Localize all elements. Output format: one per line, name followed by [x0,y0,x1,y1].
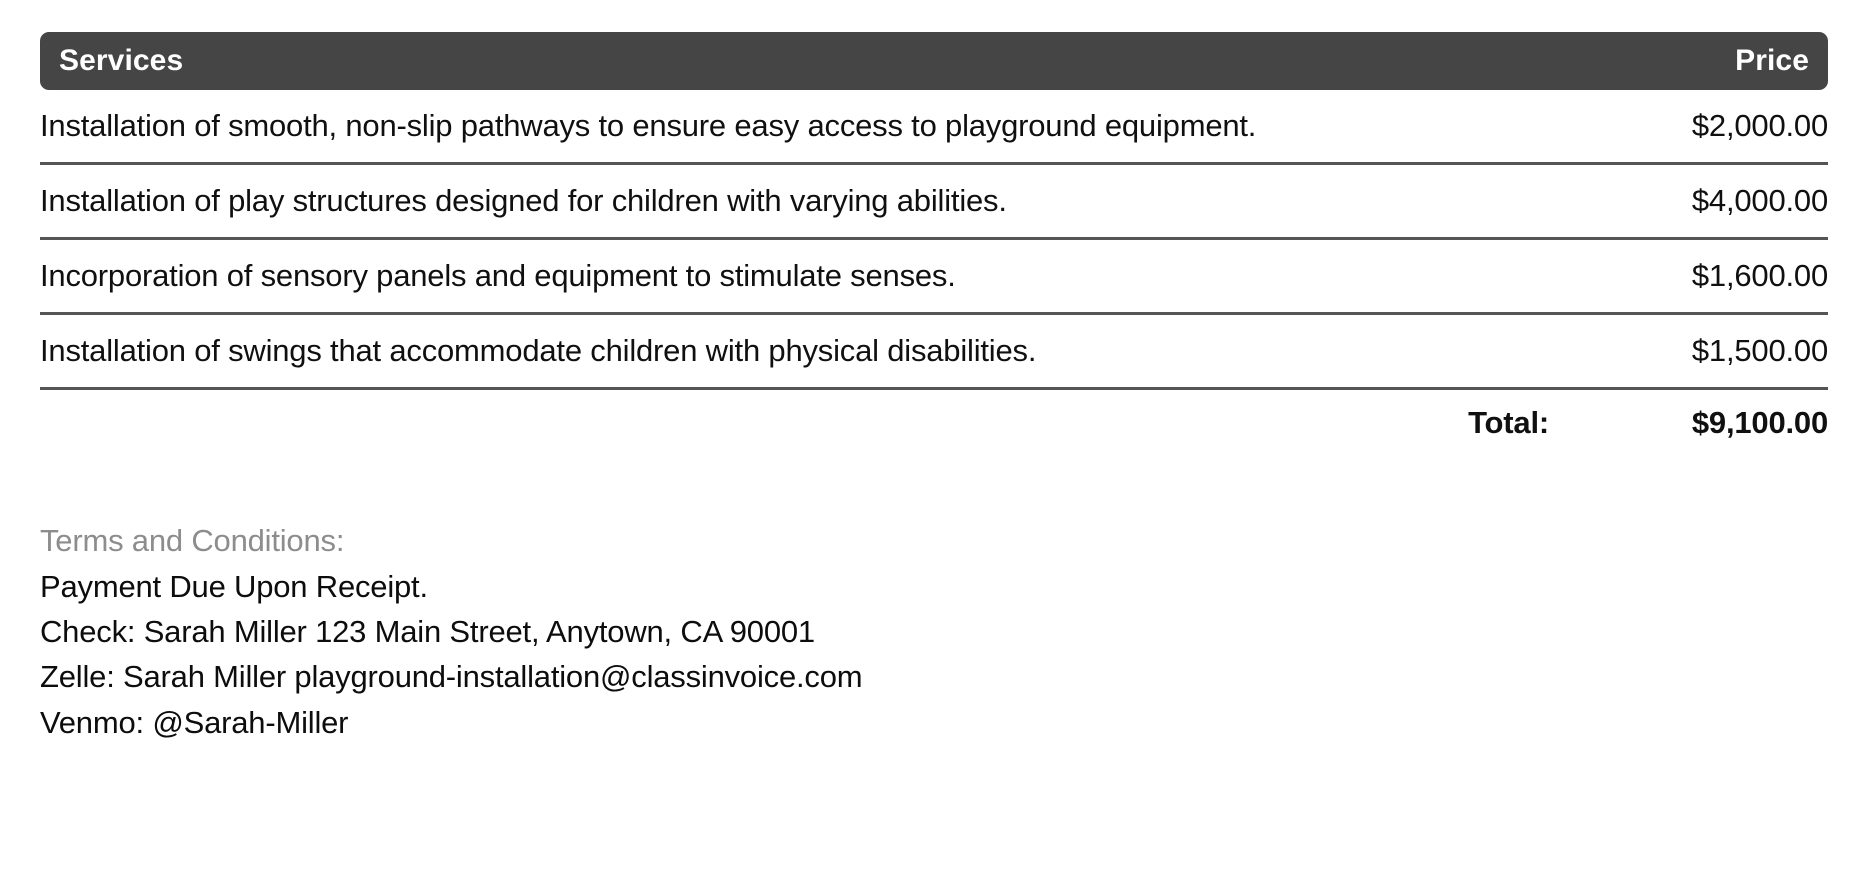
service-price: $1,500.00 [1549,314,1828,389]
table-row: Installation of smooth, non-slip pathway… [40,90,1828,164]
service-description: Incorporation of sensory panels and equi… [40,239,1549,314]
terms-and-conditions-section: Terms and Conditions: Payment Due Upon R… [40,518,1828,745]
total-value: $9,100.00 [1549,389,1828,457]
service-price: $4,000.00 [1549,164,1828,239]
table-row: Incorporation of sensory panels and equi… [40,239,1828,314]
service-price: $2,000.00 [1549,90,1828,164]
service-price: $1,600.00 [1549,239,1828,314]
column-header-price: Price [1549,32,1828,90]
table-body: Installation of smooth, non-slip pathway… [40,90,1828,456]
table-header-row: Services Price [40,32,1828,90]
table-total-row: Total: $9,100.00 [40,389,1828,457]
service-description: Installation of play structures designed… [40,164,1549,239]
column-header-services: Services [40,32,1549,90]
invoice-services-section: Services Price Installation of smooth, n… [0,0,1868,870]
terms-line-zelle: Zelle: Sarah Miller playground-installat… [40,654,1828,699]
total-label: Total: [40,389,1549,457]
terms-line-check: Check: Sarah Miller 123 Main Street, Any… [40,609,1828,654]
table-row: Installation of play structures designed… [40,164,1828,239]
table-row: Installation of swings that accommodate … [40,314,1828,389]
service-description: Installation of swings that accommodate … [40,314,1549,389]
terms-line-payment: Payment Due Upon Receipt. [40,564,1828,609]
service-description: Installation of smooth, non-slip pathway… [40,90,1549,164]
terms-line-venmo: Venmo: @Sarah-Miller [40,700,1828,745]
table-header: Services Price [40,32,1828,90]
services-price-table: Services Price Installation of smooth, n… [40,32,1828,456]
terms-heading: Terms and Conditions: [40,518,1828,564]
